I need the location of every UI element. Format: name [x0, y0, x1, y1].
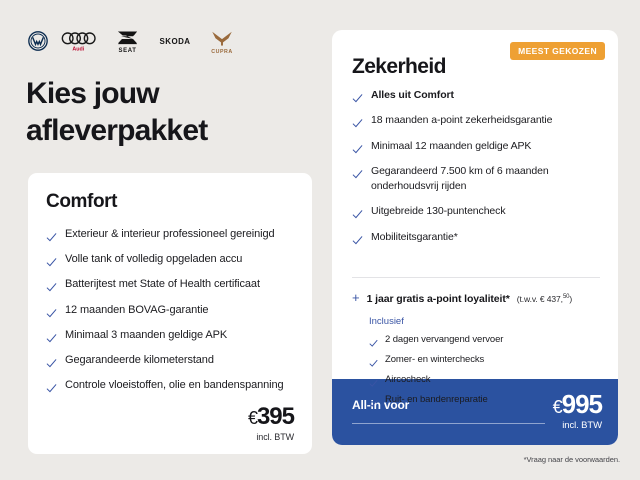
check-icon — [352, 142, 363, 153]
status-badge: MEEST GEKOZEN — [510, 42, 605, 60]
list-item-label: Controle vloeistoffen, olie en bandenspa… — [65, 378, 284, 393]
list-item: Exterieur & interieur professioneel gere… — [46, 227, 294, 242]
check-icon — [369, 355, 378, 364]
cupra-logo: CUPRA — [209, 29, 235, 54]
list-item-label: 12 maanden BOVAG-garantie — [65, 303, 208, 318]
list-item-label: Aircocheck — [385, 373, 430, 386]
footer-rule — [352, 423, 545, 424]
seat-logo: SEAT — [114, 29, 141, 53]
check-icon — [46, 306, 57, 317]
page-title: Kies jouw afleverpakket — [26, 76, 316, 149]
check-icon — [352, 91, 363, 102]
list-item: Aircocheck — [369, 373, 503, 386]
currency-symbol: € — [248, 408, 257, 428]
inclusief-label: Inclusief — [369, 316, 404, 327]
list-item: Gegarandeerd 7.500 km of 6 maanden onder… — [352, 164, 602, 193]
zekerheid-title: Zekerheid — [352, 55, 446, 79]
svg-text:CUPRA: CUPRA — [211, 48, 233, 53]
list-item-label: Ruit- en bandenreparatie — [385, 393, 488, 406]
check-icon — [46, 356, 57, 367]
list-item: 2 dagen vervangend vervoer — [369, 333, 503, 346]
list-item-label: 2 dagen vervangend vervoer — [385, 333, 503, 346]
check-icon — [46, 255, 57, 266]
comfort-price-amount: €395 — [248, 405, 294, 429]
check-icon — [46, 280, 57, 291]
inclusief-list: 2 dagen vervangend vervoer Zomer- en win… — [369, 333, 503, 413]
list-item: Minimaal 3 maanden geldige APK — [46, 328, 294, 343]
comfort-package-card[interactable]: Comfort Exterieur & interieur profession… — [28, 173, 312, 454]
list-item-label: Uitgebreide 130-puntencheck — [371, 204, 505, 218]
list-item: 18 maanden a-point zekerheidsgarantie — [352, 113, 602, 127]
brand-logo-strip: Audi SEAT SKODA CUPRA — [28, 28, 235, 54]
headline-line-2: afleverpakket — [26, 113, 316, 150]
price-value: 395 — [257, 403, 294, 430]
list-item-label: Minimaal 3 maanden geldige APK — [65, 328, 227, 343]
zekerheid-price-note: incl. BTW — [553, 420, 602, 431]
list-item: Batterijtest met State of Health certifi… — [46, 277, 294, 292]
footnote: *Vraag naar de voorwaarden. — [524, 455, 620, 464]
check-icon — [352, 207, 363, 218]
divider — [352, 277, 600, 278]
list-item-label: Zomer- en winterchecks — [385, 353, 484, 366]
check-icon — [46, 230, 57, 241]
list-item: 12 maanden BOVAG-garantie — [46, 303, 294, 318]
list-item-label: Minimaal 12 maanden geldige APK — [371, 139, 531, 153]
list-item: Ruit- en bandenreparatie — [369, 393, 503, 406]
loyalty-value-suffix: ) — [569, 294, 572, 304]
plus-icon: + — [352, 291, 360, 304]
loyalty-offer-title: 1 jaar gratis a-point loyaliteit* — [367, 293, 510, 305]
check-icon — [352, 233, 363, 244]
svg-text:Audi: Audi — [72, 46, 84, 52]
svg-text:SKODA: SKODA — [160, 37, 191, 46]
check-icon — [369, 335, 378, 344]
list-item-label: Exterieur & interieur professioneel gere… — [65, 227, 275, 242]
list-item-label: Alles uit Comfort — [371, 88, 454, 102]
list-item: Minimaal 12 maanden geldige APK — [352, 139, 602, 153]
svg-text:SEAT: SEAT — [119, 48, 137, 53]
list-item-label: Gegarandeerde kilometerstand — [65, 353, 214, 368]
check-icon — [369, 375, 378, 384]
list-item: Alles uit Comfort — [352, 88, 602, 102]
comfort-price-note: incl. BTW — [248, 432, 294, 442]
check-icon — [46, 331, 57, 342]
check-icon — [352, 167, 363, 178]
list-item: Volle tank of volledig opgeladen accu — [46, 252, 294, 267]
check-icon — [369, 395, 378, 404]
list-item-label: Gegarandeerd 7.500 km of 6 maanden onder… — [371, 164, 602, 193]
list-item-label: 18 maanden a-point zekerheidsgarantie — [371, 113, 552, 127]
left-column: Audi SEAT SKODA CUPRA Kies jouw — [0, 0, 332, 480]
list-item-label: Batterijtest met State of Health certifi… — [65, 277, 260, 292]
comfort-title: Comfort — [46, 191, 294, 213]
volkswagen-logo — [28, 31, 48, 51]
headline-line-1: Kies jouw — [26, 76, 316, 113]
check-icon — [46, 381, 57, 392]
list-item: Gegarandeerde kilometerstand — [46, 353, 294, 368]
comfort-feature-list: Exterieur & interieur professioneel gere… — [46, 227, 294, 393]
zekerheid-package-card[interactable]: MEEST GEKOZEN Zekerheid Alles uit Comfor… — [332, 30, 618, 445]
loyalty-offer-value: (t.w.v. € 437,50) — [517, 294, 572, 304]
list-item: Controle vloeistoffen, olie en bandenspa… — [46, 378, 294, 393]
skoda-logo: SKODA — [154, 34, 196, 48]
loyalty-value-prefix: (t.w.v. € 437, — [517, 294, 563, 304]
zekerheid-feature-list: Alles uit Comfort 18 maanden a-point zek… — [352, 88, 602, 255]
check-icon — [352, 116, 363, 127]
list-item-label: Mobiliteitsgarantie* — [371, 230, 458, 244]
list-item-label: Volle tank of volledig opgeladen accu — [65, 252, 242, 267]
comfort-price: €395 incl. BTW — [248, 405, 294, 442]
audi-logo: Audi — [61, 30, 101, 52]
list-item: Zomer- en winterchecks — [369, 353, 503, 366]
list-item: Uitgebreide 130-puntencheck — [352, 204, 602, 218]
loyalty-offer-row: + 1 jaar gratis a-point loyaliteit* (t.w… — [352, 291, 610, 305]
list-item: Mobiliteitsgarantie* — [352, 230, 602, 244]
